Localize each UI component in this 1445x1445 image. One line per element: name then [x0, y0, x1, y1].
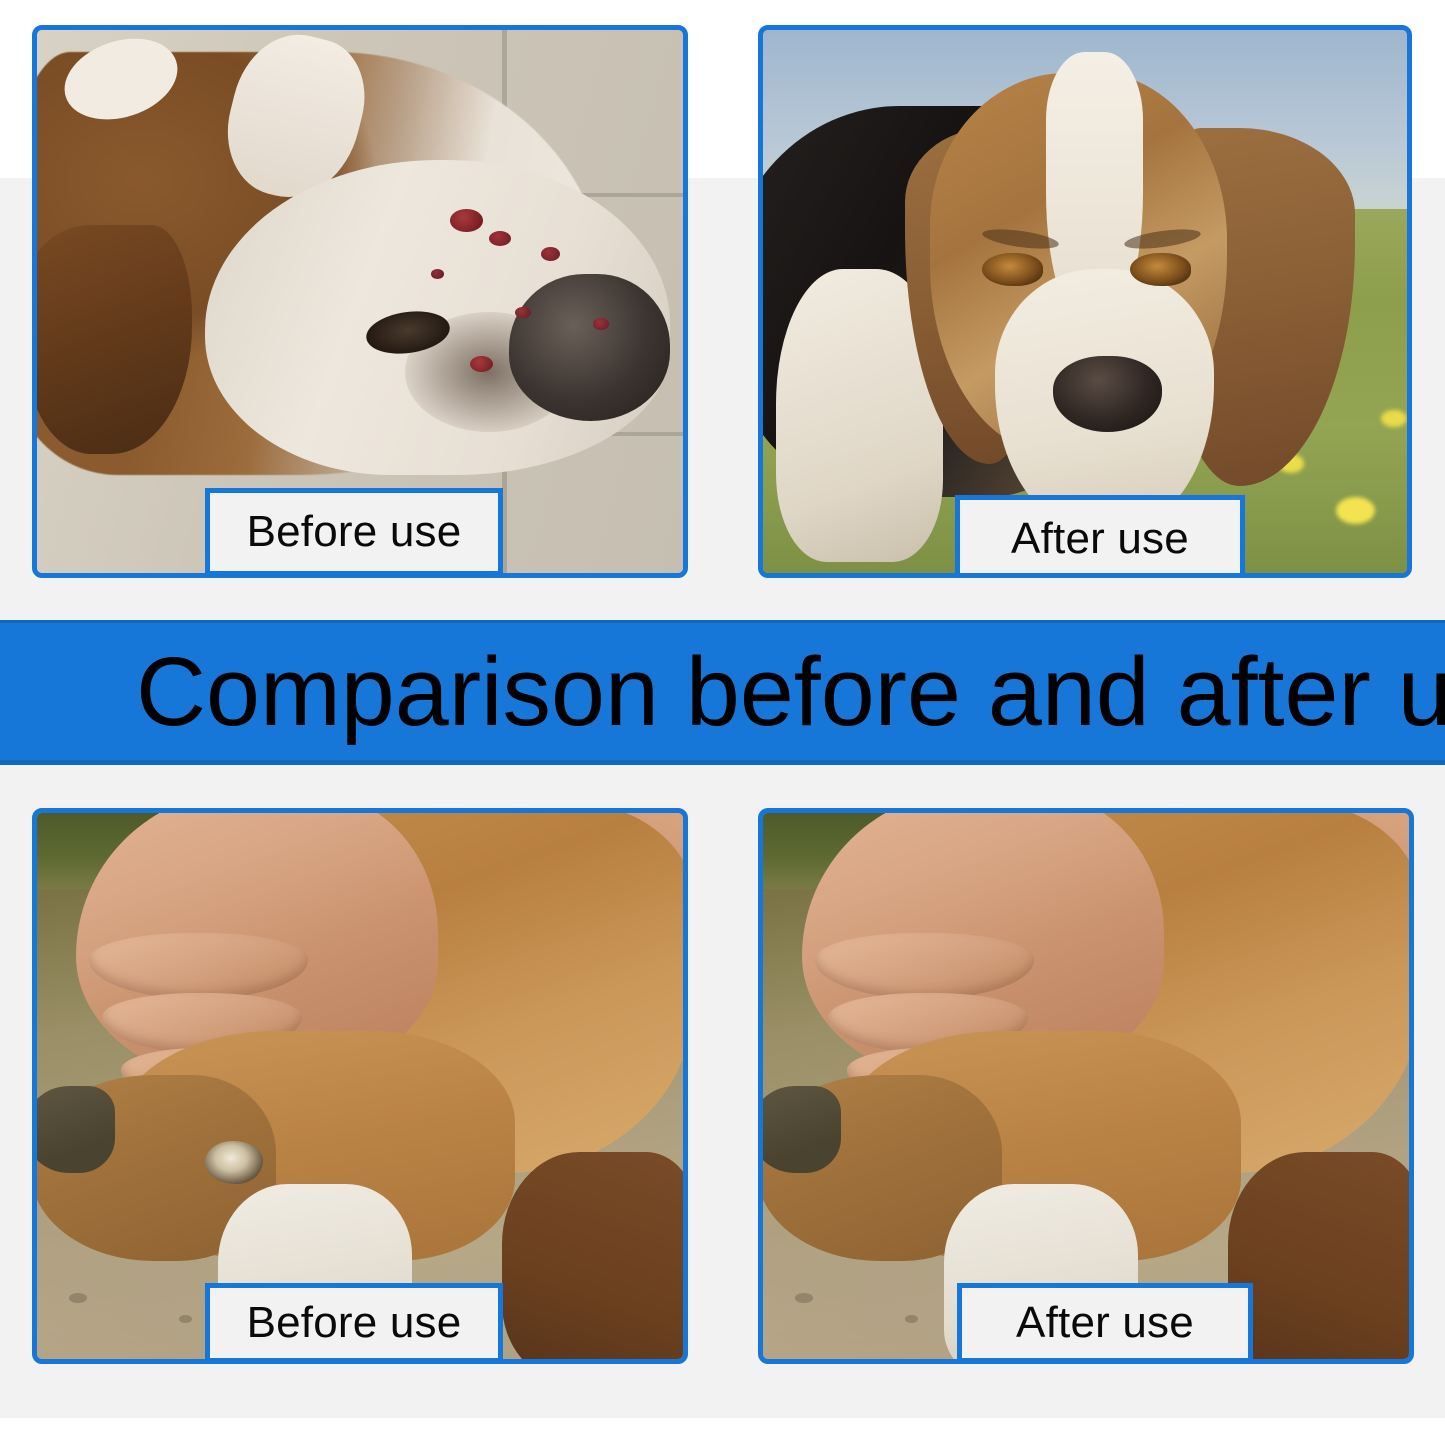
label-chip-after-top: After use: [955, 495, 1245, 578]
panel-top-left: Before use: [32, 25, 688, 578]
label-chip-before-top: Before use: [205, 488, 503, 576]
photo-after-ear: [763, 813, 1409, 1359]
photo-after-beagle: [763, 30, 1407, 573]
label-chip-after-bottom: After use: [957, 1283, 1253, 1363]
label-text: After use: [1011, 517, 1189, 561]
banner-title: Comparison before and after use: [136, 643, 1445, 740]
panel-top-right: After use: [758, 25, 1412, 578]
panel-bottom-right: After use: [758, 808, 1414, 1364]
panel-bottom-left: Before use: [32, 808, 688, 1364]
label-text: Before use: [247, 1301, 462, 1345]
label-text: After use: [1016, 1301, 1194, 1345]
label-text: Before use: [247, 510, 462, 554]
comparison-infographic: Before use After use: [0, 0, 1445, 1445]
label-chip-before-bottom: Before use: [205, 1283, 503, 1363]
photo-before-ear: [37, 813, 683, 1359]
comparison-banner: Comparison before and after use: [0, 620, 1445, 765]
